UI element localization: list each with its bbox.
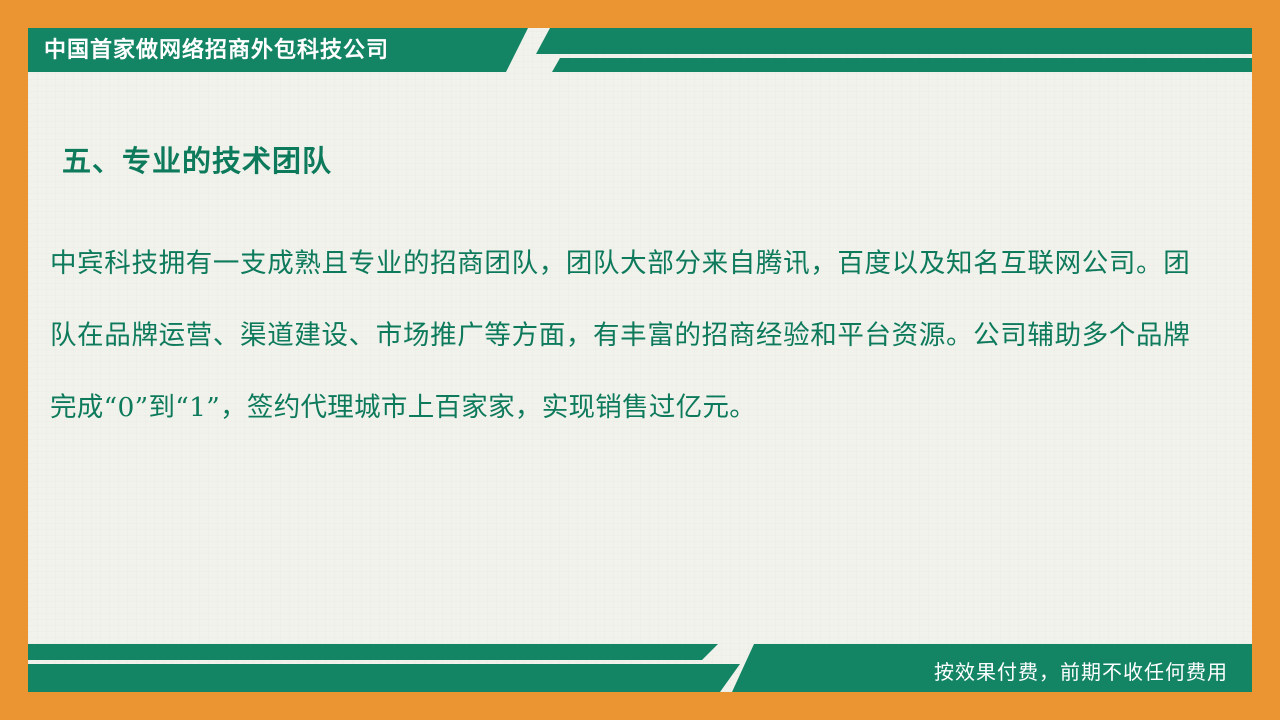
footer-green-block: 按效果付费，前期不收任何费用 — [732, 644, 1252, 692]
slide-footer-band: 按效果付费，前期不收任何费用 — [28, 644, 1252, 692]
header-accent-stripe-bottom — [552, 58, 1252, 72]
header-accent-stripe-top — [536, 28, 1252, 54]
footer-accent-stripe-top — [28, 644, 718, 660]
body-paragraph: 中宾科技拥有一支成熟且专业的招商团队，团队大部分来自腾讯，百度以及知名互联网公司… — [50, 228, 1190, 444]
slide-canvas: 中国首家做网络招商外包科技公司 五、专业的技术团队 中宾科技拥有一支成熟且专业的… — [0, 0, 1280, 720]
header-green-block: 中国首家做网络招商外包科技公司 — [28, 28, 528, 72]
slide-header-band: 中国首家做网络招商外包科技公司 — [28, 28, 1252, 72]
header-title: 中国首家做网络招商外包科技公司 — [44, 37, 389, 63]
section-heading: 五、专业的技术团队 — [62, 138, 332, 180]
footer-slogan: 按效果付费，前期不收任何费用 — [934, 656, 1228, 685]
footer-accent-stripe-bottom — [28, 664, 740, 692]
